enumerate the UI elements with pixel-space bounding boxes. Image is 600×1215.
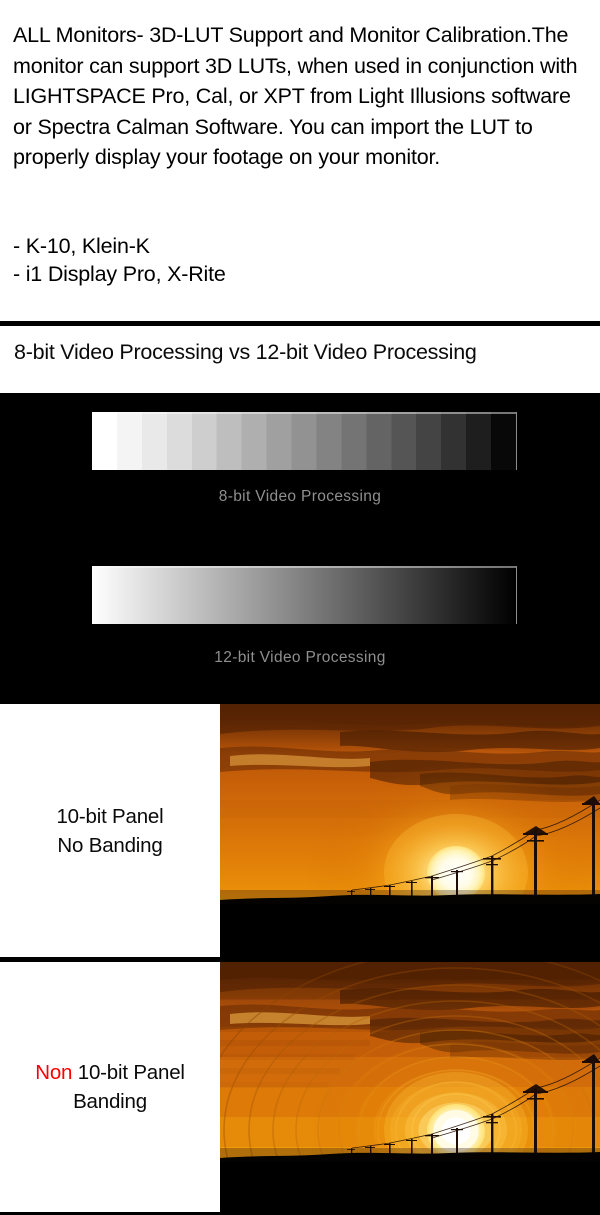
gradient-caption-8bit: 8-bit Video Processing (0, 488, 600, 506)
label-accent-non: Non (35, 1061, 72, 1084)
gradient-bar-12bit (92, 566, 517, 624)
label-line-1: 10-bit Panel (56, 805, 163, 828)
gradient-demo-panel: 8-bit Video Processing 12-bit Video Proc… (0, 393, 600, 704)
device-list-item: - i1 Display Pro, X-Rite (13, 260, 573, 288)
label-pane-10bit: 10-bit Panel No Banding (0, 704, 220, 957)
intro-text-section: ALL Monitors- 3D-LUT Support and Monitor… (0, 0, 600, 321)
device-list-item: - K-10, Klein-K (13, 232, 573, 260)
label-line-2: No Banding (57, 834, 162, 857)
gradient-bar-8bit-fill (92, 412, 516, 470)
photo-sunset-banding (220, 962, 600, 1212)
label-text-non-10bit: Non 10-bit Panel Banding (35, 1058, 185, 1116)
sunset-image-smooth (220, 704, 600, 957)
intro-paragraph: ALL Monitors- 3D-LUT Support and Monitor… (13, 20, 593, 173)
sunset-image-banded (220, 962, 600, 1212)
device-list: - K-10, Klein-K - i1 Display Pro, X-Rite (13, 232, 573, 288)
photo-sunset-no-banding (220, 704, 600, 957)
label-pane-non-10bit: Non 10-bit Panel Banding (0, 962, 220, 1212)
comparison-row-non-10bit: Non 10-bit Panel Banding (0, 962, 600, 1212)
comparison-heading: 8-bit Video Processing vs 12-bit Video P… (14, 340, 477, 365)
label-text-10bit: 10-bit Panel No Banding (56, 802, 163, 860)
screenshot-root: ALL Monitors- 3D-LUT Support and Monitor… (0, 0, 600, 1215)
label-line-1: 10-bit Panel (72, 1061, 185, 1084)
gradient-caption-12bit: 12-bit Video Processing (0, 649, 600, 667)
gradient-bar-12bit-fill (92, 566, 516, 624)
label-line-2: Banding (73, 1090, 147, 1113)
gradient-bar-8bit (92, 412, 517, 470)
comparison-heading-strip: 8-bit Video Processing vs 12-bit Video P… (0, 326, 600, 393)
comparison-row-10bit: 10-bit Panel No Banding (0, 704, 600, 957)
